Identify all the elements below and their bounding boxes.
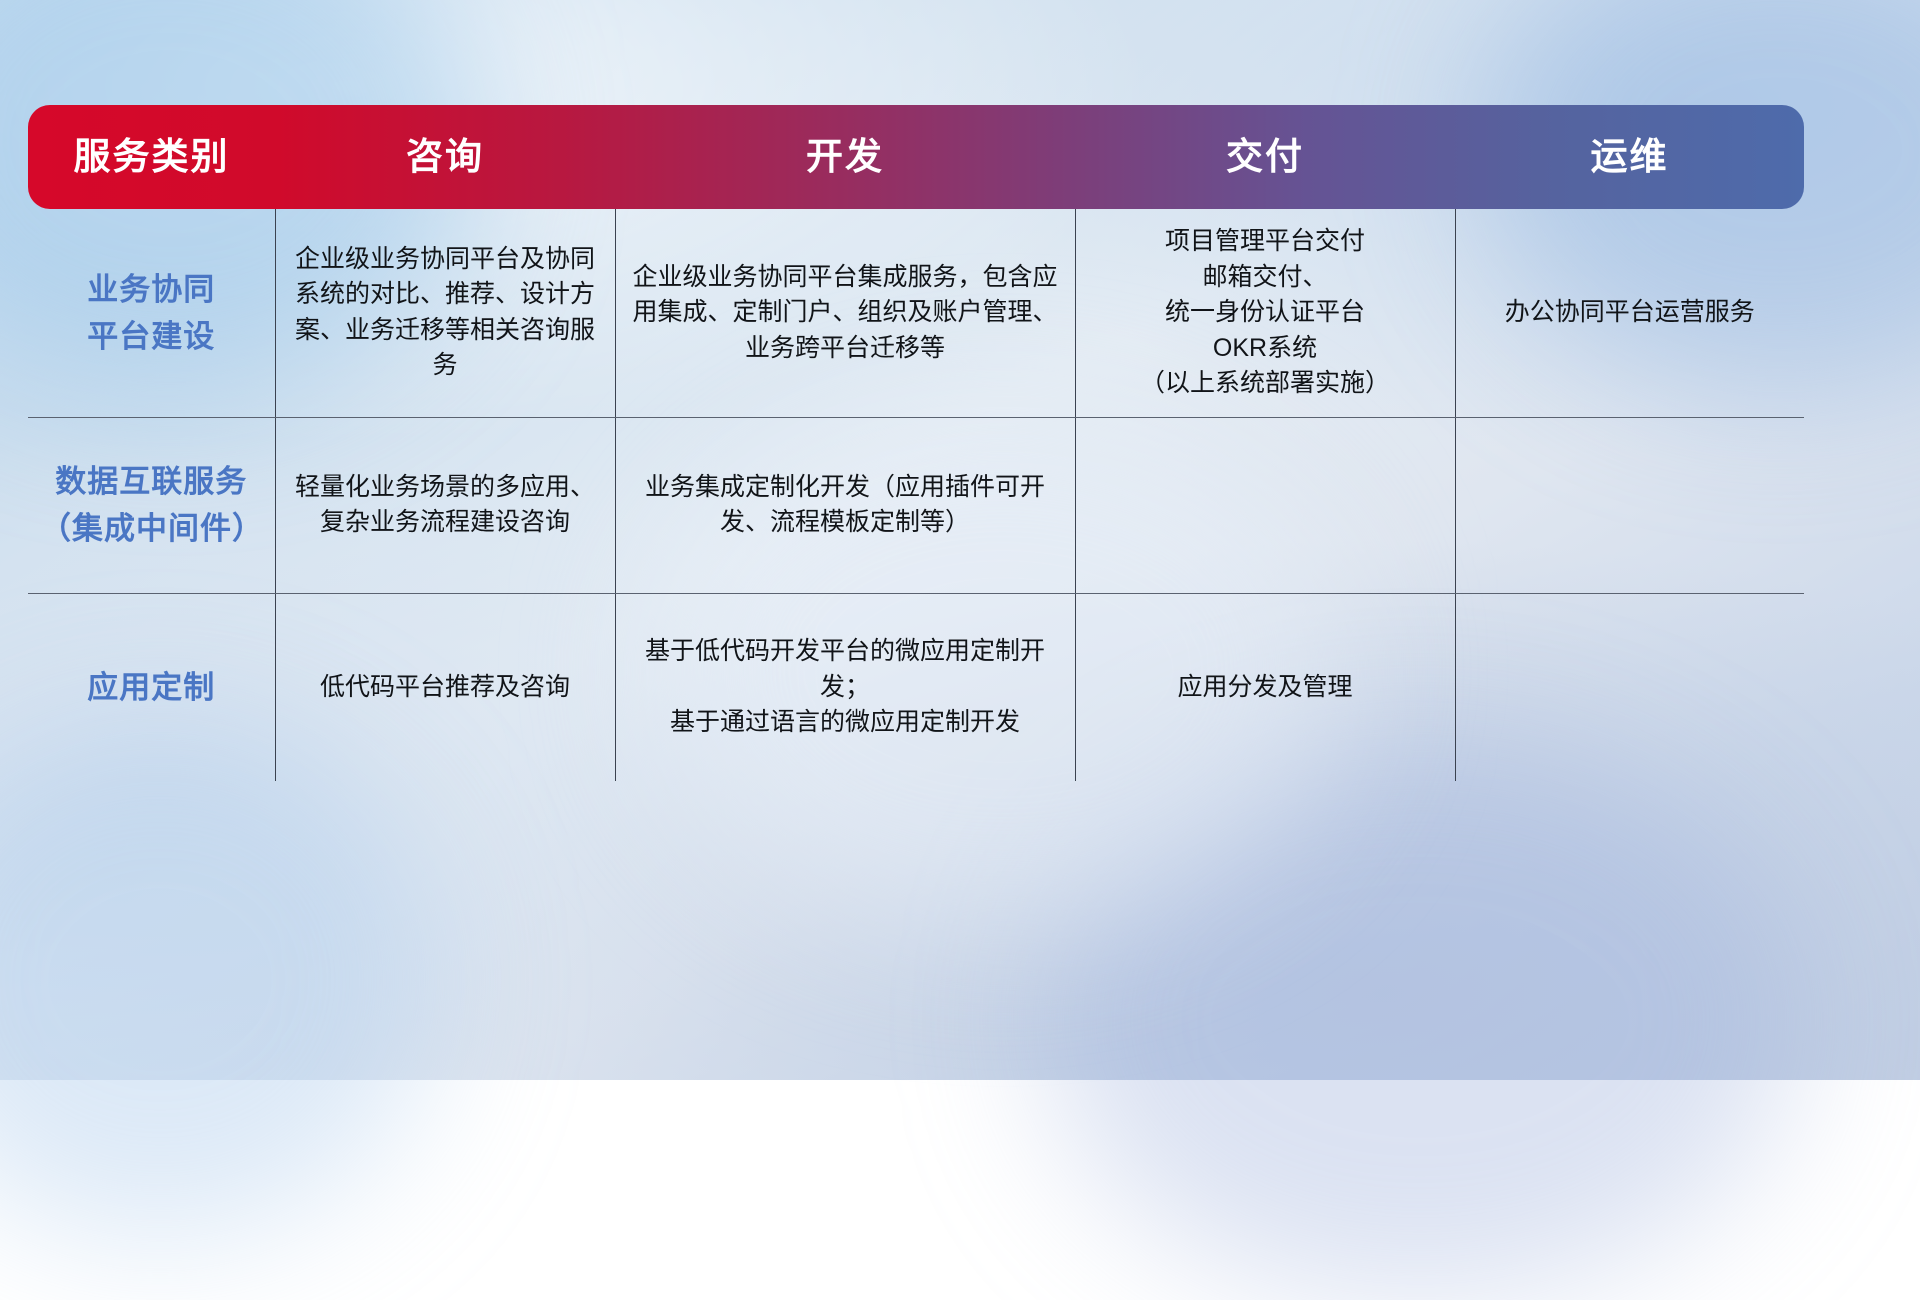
cell-category-2: 数据互联服务 （集成中间件） xyxy=(28,417,275,593)
cell-consulting-2: 轻量化业务场景的多应用、复杂业务流程建设咨询 xyxy=(275,417,615,593)
cell-consulting-1: 企业级业务协同平台及协同系统的对比、推荐、设计方案、业务迁移等相关咨询服务 xyxy=(275,209,615,417)
header-cell-delivery: 交付 xyxy=(1075,105,1455,209)
header-cell-consulting: 咨询 xyxy=(275,105,615,209)
header-cell-operations: 运维 xyxy=(1455,105,1804,209)
cell-text: 应用定制 xyxy=(40,664,263,711)
cell-text: 应用分发及管理 xyxy=(1088,670,1443,706)
cell-text: 企业级业务协同平台及协同系统的对比、推荐、设计方案、业务迁移等相关咨询服务 xyxy=(288,242,603,384)
cell-text: 轻量化业务场景的多应用、复杂业务流程建设咨询 xyxy=(288,470,603,541)
cell-text: 办公协同平台运营服务 xyxy=(1468,295,1793,331)
table-header: 服务类别 咨询 开发 交付 运维 xyxy=(28,105,1804,209)
header-label-category: 服务类别 xyxy=(28,105,275,209)
cell-category-1: 业务协同 平台建设 xyxy=(28,209,275,417)
cell-text: 业务协同 平台建设 xyxy=(40,266,263,360)
slide-canvas: 服务类别 咨询 开发 交付 运维 xyxy=(0,0,1920,1080)
table-row: 业务协同 平台建设 企业级业务协同平台及协同系统的对比、推荐、设计方案、业务迁移… xyxy=(28,209,1804,417)
service-matrix-table-wrap: 服务类别 咨询 开发 交付 运维 xyxy=(28,105,1804,777)
cell-text: 数据互联服务 （集成中间件） xyxy=(40,458,263,552)
cell-delivery-1: 项目管理平台交付 邮箱交付、 统一身份认证平台 OKR系统 （以上系统部署实施） xyxy=(1075,209,1455,417)
background-glow-bottom-left xyxy=(0,720,440,1240)
table-body: 业务协同 平台建设 企业级业务协同平台及协同系统的对比、推荐、设计方案、业务迁移… xyxy=(28,209,1804,781)
cell-development-1: 企业级业务协同平台集成服务，包含应用集成、定制门户、组织及账户管理、业务跨平台迁… xyxy=(615,209,1075,417)
cell-text: 基于低代码开发平台的微应用定制开发； 基于通过语言的微应用定制开发 xyxy=(628,634,1063,741)
header-label-operations: 运维 xyxy=(1455,105,1804,209)
cell-operations-3 xyxy=(1455,593,1804,781)
cell-text: 低代码平台推荐及咨询 xyxy=(288,670,603,706)
cell-text: 业务集成定制化开发（应用插件可开发、流程模板定制等） xyxy=(628,470,1063,541)
service-matrix-table: 服务类别 咨询 开发 交付 运维 xyxy=(28,105,1804,781)
cell-consulting-3: 低代码平台推荐及咨询 xyxy=(275,593,615,781)
cell-delivery-3: 应用分发及管理 xyxy=(1075,593,1455,781)
table-row: 应用定制 低代码平台推荐及咨询 基于低代码开发平台的微应用定制开发； 基于通过语… xyxy=(28,593,1804,781)
cell-category-3: 应用定制 xyxy=(28,593,275,781)
header-label-consulting: 咨询 xyxy=(275,105,615,209)
header-cell-category: 服务类别 xyxy=(28,105,275,209)
table-row: 数据互联服务 （集成中间件） 轻量化业务场景的多应用、复杂业务流程建设咨询 业务… xyxy=(28,417,1804,593)
cell-development-3: 基于低代码开发平台的微应用定制开发； 基于通过语言的微应用定制开发 xyxy=(615,593,1075,781)
cell-delivery-2 xyxy=(1075,417,1455,593)
header-cell-development: 开发 xyxy=(615,105,1075,209)
header-row: 服务类别 咨询 开发 交付 运维 xyxy=(28,105,1804,209)
header-label-development: 开发 xyxy=(615,105,1075,209)
cell-development-2: 业务集成定制化开发（应用插件可开发、流程模板定制等） xyxy=(615,417,1075,593)
background-glow-bottom-right xyxy=(1040,740,1800,1300)
cell-operations-2 xyxy=(1455,417,1804,593)
cell-text: 企业级业务协同平台集成服务，包含应用集成、定制门户、组织及账户管理、业务跨平台迁… xyxy=(628,260,1063,367)
cell-operations-1: 办公协同平台运营服务 xyxy=(1455,209,1804,417)
header-label-delivery: 交付 xyxy=(1075,105,1455,209)
cell-text: 项目管理平台交付 邮箱交付、 统一身份认证平台 OKR系统 （以上系统部署实施） xyxy=(1088,224,1443,402)
